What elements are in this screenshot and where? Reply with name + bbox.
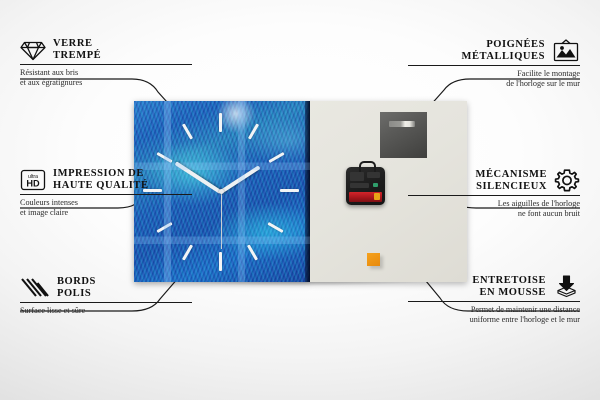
callout-divider	[408, 301, 580, 302]
picture-frame-hanger-icon	[552, 38, 580, 63]
clock-tick	[268, 152, 284, 163]
callout-header: ultra HD IMPRESSION DE HAUTE QUALITÉ	[20, 168, 192, 192]
mechanism-hanging-loop	[359, 161, 376, 172]
polished-edge-icon	[20, 277, 50, 299]
callout-subtitle-line1: Résistant aux bris	[20, 68, 192, 78]
callout-title-line2: TREMPÉ	[53, 50, 101, 62]
clock-center-cap	[219, 189, 224, 194]
mechanism-detail	[350, 183, 369, 188]
callout-title-line2: SILENCIEUX	[476, 181, 547, 193]
callout-header: BORDS POLIS	[20, 276, 192, 300]
callout-title-line1: VERRE	[53, 38, 101, 50]
ultra-hd-large-text: HD	[26, 179, 40, 189]
callout-title: MÉCANISME SILENCIEUX	[476, 169, 547, 193]
metal-hanger	[380, 112, 427, 158]
clock-hour-hand	[220, 165, 261, 194]
clock-second-hand	[221, 191, 222, 249]
callout-title-line2: HAUTE QUALITÉ	[53, 180, 149, 192]
callout-subtitle-line1: Couleurs intenses	[20, 198, 192, 208]
ultra-hd-badge-icon: ultra HD	[20, 168, 46, 192]
callout-subtitle-line2: et aux égratignures	[20, 78, 192, 88]
callout-header: POIGNÉES MÉTALLIQUES	[408, 38, 580, 63]
product-feature-infographic: VERRE TREMPÉ Résistant aux bris et aux é…	[0, 0, 600, 400]
callout-title: VERRE TREMPÉ	[53, 38, 101, 62]
clock-tick	[267, 222, 283, 233]
callout-divider	[20, 64, 192, 65]
callout-header: MÉCANISME SILENCIEUX	[408, 168, 580, 193]
clock-tick	[156, 152, 172, 163]
callout-subtitle-line1: Permet de maintenir une distance	[408, 305, 580, 315]
callout-divider	[20, 302, 192, 303]
gear-icon	[554, 168, 580, 193]
callout-title-line1: IMPRESSION DE	[53, 168, 149, 180]
battery-plus-terminal	[374, 193, 380, 200]
callout-subtitle-line1: Les aiguilles de l'horloge	[408, 199, 580, 209]
callout-entretoise-en-mousse[interactable]: ENTRETOISE EN MOUSSE Permet de maintenir…	[408, 274, 580, 325]
mechanism-detail	[367, 172, 380, 178]
callout-title-line1: POIGNÉES	[462, 39, 545, 51]
mechanism-led	[373, 183, 378, 187]
callout-poignees-metalliques[interactable]: POIGNÉES MÉTALLIQUES Facilite le montage…	[408, 38, 580, 89]
callout-divider	[20, 194, 192, 195]
callout-subtitle-line2: ne font aucun bruit	[408, 209, 580, 219]
callout-title-line2: MÉTALLIQUES	[462, 51, 545, 63]
callout-divider	[408, 65, 580, 66]
clock-tick	[182, 244, 193, 260]
callout-subtitle-line1: Facilite le montage	[408, 69, 580, 79]
callout-header: ENTRETOISE EN MOUSSE	[408, 274, 580, 299]
callout-title-line1: ENTRETOISE	[472, 275, 546, 287]
callout-impression-haute-qualite[interactable]: ultra HD IMPRESSION DE HAUTE QUALITÉ Cou…	[20, 168, 192, 218]
diamond-icon	[20, 39, 46, 61]
callout-title-line2: POLIS	[57, 288, 96, 300]
callout-subtitle-line1: Surface lisse et sûre	[20, 306, 192, 316]
clock-tick	[280, 189, 299, 192]
callout-title-line1: MÉCANISME	[476, 169, 547, 181]
foam-spacer-icon	[553, 274, 580, 299]
callout-subtitle-line2: de l'horloge sur le mur	[408, 79, 580, 89]
clock-tick	[182, 123, 193, 139]
clock-tick	[219, 252, 222, 271]
callout-title: POIGNÉES MÉTALLIQUES	[462, 39, 545, 63]
callout-mecanisme-silencieux[interactable]: MÉCANISME SILENCIEUX Les aiguilles de l'…	[408, 168, 580, 219]
callout-title-line1: BORDS	[57, 276, 96, 288]
quartz-mechanism	[346, 167, 385, 205]
hanger-slot	[389, 121, 415, 127]
battery	[349, 192, 382, 202]
mechanism-detail	[350, 172, 364, 181]
foam-spacer	[367, 253, 380, 266]
callout-title: ENTRETOISE EN MOUSSE	[472, 275, 546, 299]
callout-header: VERRE TREMPÉ	[20, 38, 192, 62]
clock-tick	[248, 123, 259, 139]
clock-tick	[219, 113, 222, 132]
callout-divider	[408, 195, 580, 196]
callout-title-line2: EN MOUSSE	[472, 287, 546, 299]
callout-verre-trempe[interactable]: VERRE TREMPÉ Résistant aux bris et aux é…	[20, 38, 192, 88]
callout-subtitle-line2: et image claire	[20, 208, 192, 218]
clock-tick	[156, 222, 172, 233]
callout-subtitle-line2: uniforme entre l'horloge et le mur	[408, 315, 580, 325]
callout-bords-polis[interactable]: BORDS POLIS Surface lisse et sûre	[20, 276, 192, 316]
callout-title: IMPRESSION DE HAUTE QUALITÉ	[53, 168, 149, 192]
clock-tick	[247, 244, 258, 260]
callout-title: BORDS POLIS	[57, 276, 96, 300]
